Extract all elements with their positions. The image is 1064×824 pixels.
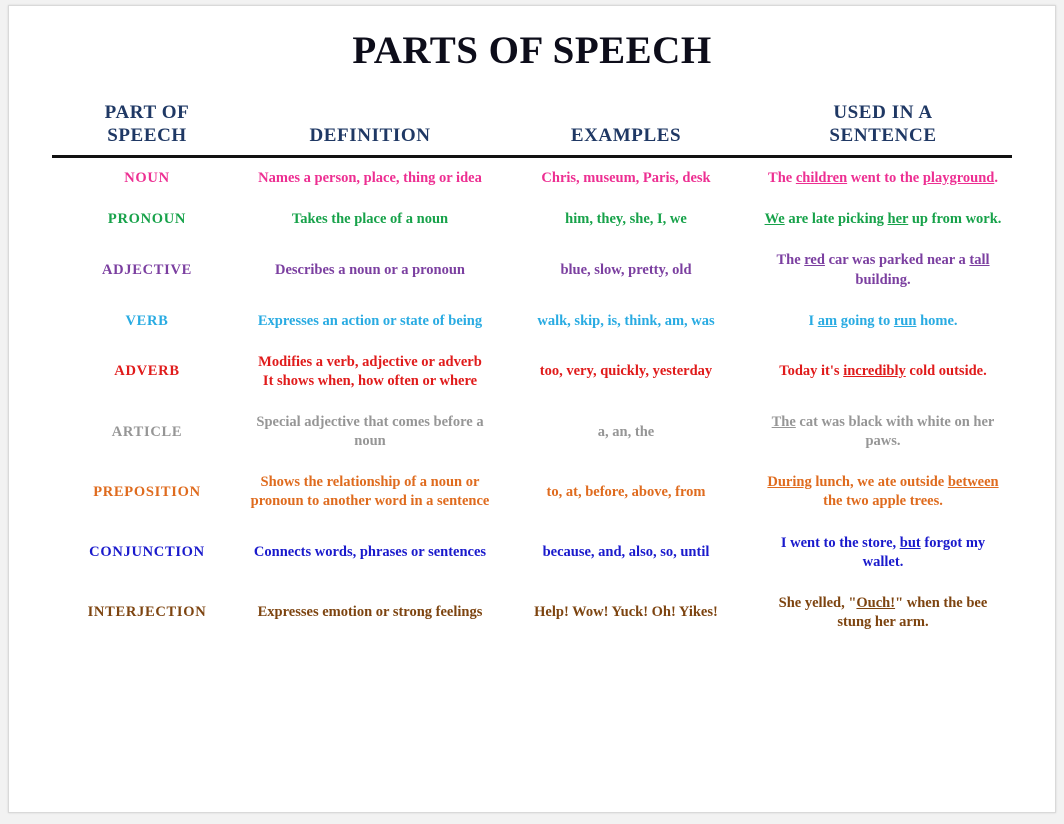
cell-examples: a, an, the (498, 402, 754, 462)
cell-examples: because, and, also, so, until (498, 523, 754, 583)
cell-examples: blue, slow, pretty, old (498, 240, 754, 300)
cell-examples: too, very, quickly, yesterday (498, 342, 754, 402)
table-row: NOUN Names a person, place, thing or ide… (52, 157, 1012, 200)
cell-examples: to, at, before, above, from (498, 462, 754, 522)
sentence-text: lunch, we ate outside (812, 474, 948, 490)
sentence-text: are late picking (785, 211, 888, 227)
cell-sentence: I went to the store, but forgot my walle… (754, 523, 1012, 583)
definition-line-1: Modifies a verb, adjective or adverb (248, 353, 492, 372)
header-line-1: PART OF (58, 101, 236, 124)
cell-sentence: The cat was black with white on her paws… (754, 402, 1012, 462)
cell-examples: Help! Wow! Yuck! Oh! Yikes! (498, 583, 754, 643)
underlined-word: between (948, 474, 999, 490)
underlined-word: red (804, 252, 825, 268)
cell-part-of-speech: PRONOUN (52, 199, 242, 240)
table-row: PRONOUN Takes the place of a noun him, t… (52, 199, 1012, 240)
cell-examples: Chris, museum, Paris, desk (498, 157, 754, 200)
header-line-2: SPEECH (58, 124, 236, 147)
table-header: PART OF SPEECH DEFINITION EXAMPLES USED … (52, 101, 1012, 157)
cell-definition: Shows the relationship of a noun or pron… (242, 462, 498, 522)
cell-definition: Special adjective that comes before a no… (242, 402, 498, 462)
cell-definition: Connects words, phrases or sentences (242, 523, 498, 583)
cell-part-of-speech: NOUN (52, 157, 242, 200)
screenshot-canvas: PARTS OF SPEECH PART OF SPEECH DEFINITIO… (0, 0, 1064, 824)
cell-part-of-speech: ADVERB (52, 342, 242, 402)
table-body: NOUN Names a person, place, thing or ide… (52, 157, 1012, 643)
sentence-text: building. (855, 272, 910, 288)
cell-definition: Modifies a verb, adjective or adverb It … (242, 342, 498, 402)
sentence-text: car was parked near a (825, 252, 969, 268)
parts-of-speech-table: PART OF SPEECH DEFINITION EXAMPLES USED … (52, 101, 1012, 643)
underlined-word: but (900, 535, 921, 551)
sentence-text: I went to the store, (781, 535, 900, 551)
sentence-text: home. (916, 313, 957, 329)
table-row: ARTICLE Special adjective that comes bef… (52, 402, 1012, 462)
cell-sentence: I am going to run home. (754, 301, 1012, 342)
sentence-text: . (994, 170, 998, 186)
sentence-text: The (768, 170, 796, 186)
cell-sentence: We are late picking her up from work. (754, 199, 1012, 240)
table-row: INTERJECTION Expresses emotion or strong… (52, 583, 1012, 643)
table-row: VERB Expresses an action or state of bei… (52, 301, 1012, 342)
cell-part-of-speech: CONJUNCTION (52, 523, 242, 583)
column-header-part-of-speech: PART OF SPEECH (52, 101, 242, 157)
sentence-text: the two apple trees. (823, 493, 943, 509)
page-title: PARTS OF SPEECH (9, 6, 1055, 73)
underlined-word: her (888, 211, 909, 227)
underlined-word: children (796, 170, 847, 186)
cell-part-of-speech: VERB (52, 301, 242, 342)
cell-part-of-speech: ADJECTIVE (52, 240, 242, 300)
table-row: CONJUNCTION Connects words, phrases or s… (52, 523, 1012, 583)
cell-examples: him, they, she, I, we (498, 199, 754, 240)
definition-line-2: It shows when, how often or where (248, 372, 492, 391)
cell-sentence: The red car was parked near a tall build… (754, 240, 1012, 300)
header-line-1: USED IN A (760, 101, 1006, 124)
sentence-text: cat was black with white on her paws. (796, 414, 995, 449)
cell-sentence: She yelled, "Ouch!" when the bee stung h… (754, 583, 1012, 643)
underlined-word: We (765, 211, 785, 227)
underlined-word: playground (923, 170, 994, 186)
underlined-word: incredibly (843, 363, 906, 379)
sentence-text: The (776, 252, 804, 268)
cell-sentence: During lunch, we ate outside between the… (754, 462, 1012, 522)
cell-sentence: The children went to the playground. (754, 157, 1012, 200)
column-header-definition: DEFINITION (242, 101, 498, 157)
cell-part-of-speech: PREPOSITION (52, 462, 242, 522)
header-line-2: SENTENCE (760, 124, 1006, 147)
sentence-text: Today it's (779, 363, 843, 379)
table-row: ADVERB Modifies a verb, adjective or adv… (52, 342, 1012, 402)
cell-definition: Expresses emotion or strong feelings (242, 583, 498, 643)
document-body: PARTS OF SPEECH PART OF SPEECH DEFINITIO… (9, 6, 1055, 643)
cell-sentence: Today it's incredibly cold outside. (754, 342, 1012, 402)
cell-definition: Describes a noun or a pronoun (242, 240, 498, 300)
underlined-word: tall (969, 252, 989, 268)
sentence-text: cold outside. (906, 363, 987, 379)
column-header-examples: EXAMPLES (498, 101, 754, 157)
sentence-text: I (808, 313, 817, 329)
table-header-row: PART OF SPEECH DEFINITION EXAMPLES USED … (52, 101, 1012, 157)
underlined-word: Ouch! (856, 595, 895, 611)
column-header-used-in-a-sentence: USED IN A SENTENCE (754, 101, 1012, 157)
sentence-text: up from work. (908, 211, 1001, 227)
underlined-word: The (772, 414, 796, 430)
cell-definition: Takes the place of a noun (242, 199, 498, 240)
cell-definition: Expresses an action or state of being (242, 301, 498, 342)
sentence-text: going to (837, 313, 894, 329)
cell-definition: Names a person, place, thing or idea (242, 157, 498, 200)
table-row: PREPOSITION Shows the relationship of a … (52, 462, 1012, 522)
cell-part-of-speech: INTERJECTION (52, 583, 242, 643)
document-page: PARTS OF SPEECH PART OF SPEECH DEFINITIO… (8, 5, 1056, 813)
underlined-word: am (818, 313, 837, 329)
underlined-word: During (767, 474, 811, 490)
table-row: ADJECTIVE Describes a noun or a pronoun … (52, 240, 1012, 300)
cell-examples: walk, skip, is, think, am, was (498, 301, 754, 342)
sentence-text: She yelled, " (779, 595, 857, 611)
sentence-text: went to the (847, 170, 923, 186)
cell-part-of-speech: ARTICLE (52, 402, 242, 462)
underlined-word: run (894, 313, 917, 329)
